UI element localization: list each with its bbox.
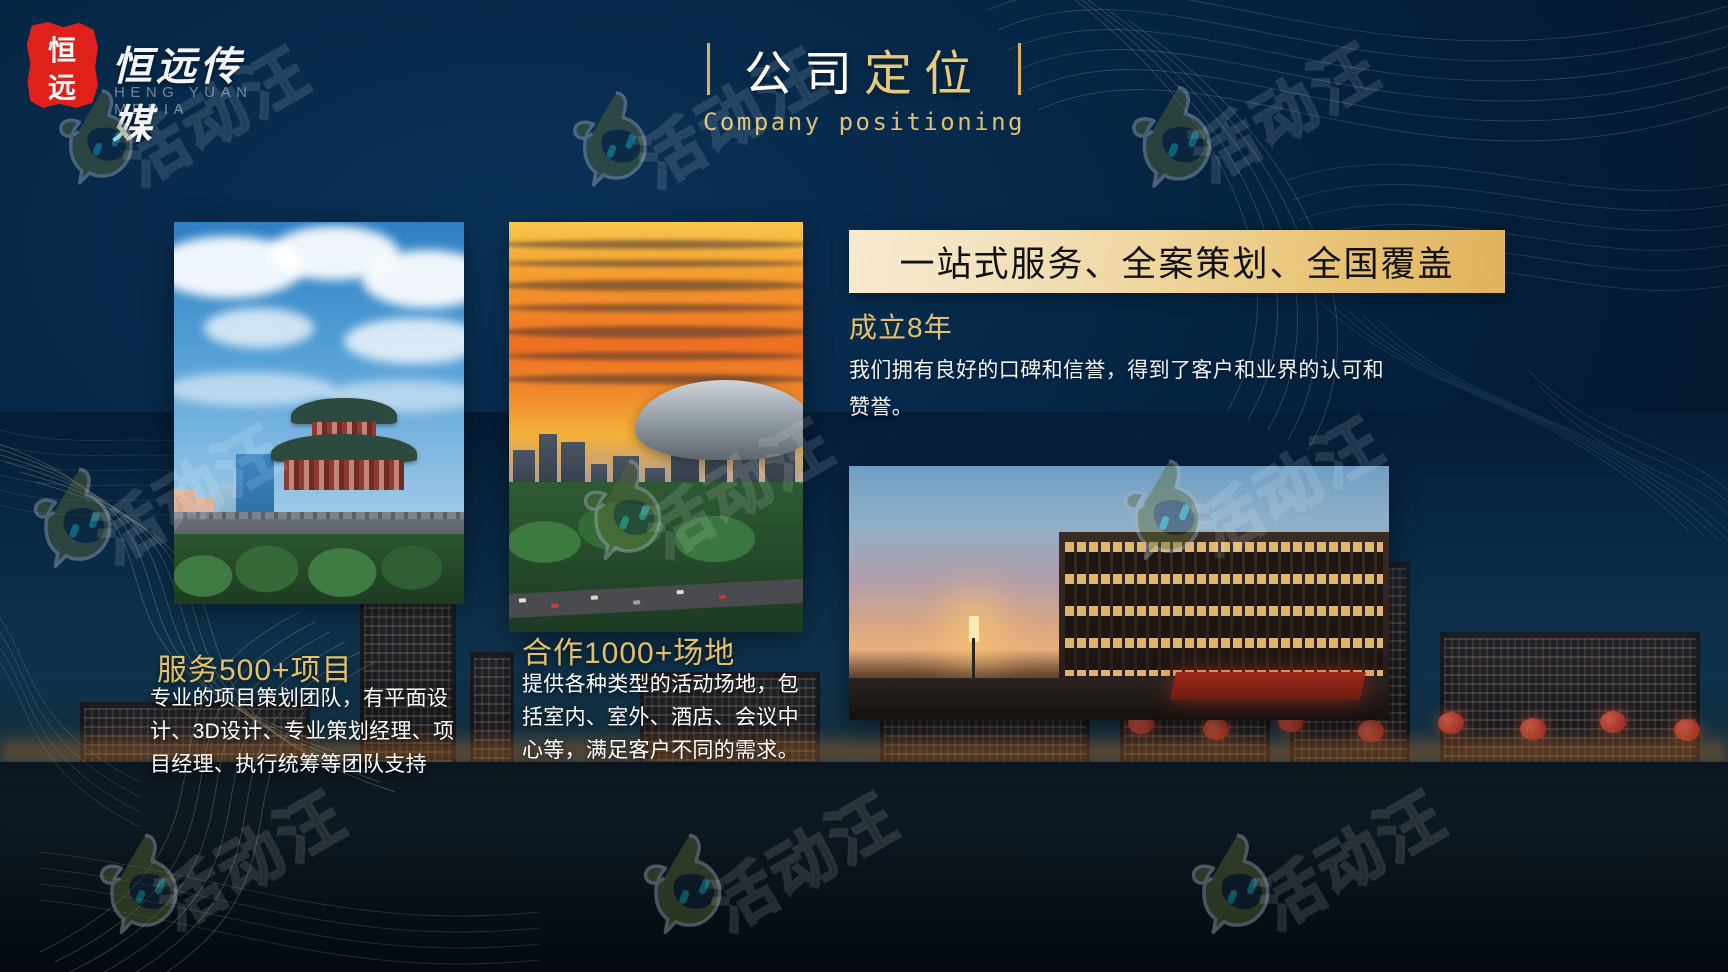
pagoda-roof-lower bbox=[271, 434, 417, 462]
pagoda-pillars-lower bbox=[284, 460, 404, 490]
car bbox=[633, 600, 640, 604]
slide-canvas: 恒 远 恒远传媒 HENG YUAN MEDIA 公司定位 Company po… bbox=[0, 0, 1728, 972]
car bbox=[719, 595, 726, 599]
cloud bbox=[204, 308, 314, 348]
photo1-trees bbox=[174, 534, 464, 604]
car bbox=[591, 595, 598, 599]
cloud-stripe bbox=[509, 304, 803, 312]
title-divider-right bbox=[1018, 43, 1021, 95]
cloud-stripe bbox=[509, 280, 803, 291]
cloud-stripe bbox=[509, 374, 803, 384]
photo3-red-steps bbox=[1170, 672, 1366, 700]
caption-2-heading: 合作1000+场地 bbox=[522, 628, 735, 672]
caption-2-body: 提供各种类型的活动场地，包括室内、室外、酒店、会议中心等，满足客户不同的需求。 bbox=[522, 668, 802, 767]
cloud-stripe bbox=[509, 352, 803, 360]
cloud-stripe bbox=[509, 326, 803, 338]
car bbox=[519, 598, 526, 602]
years-heading: 成立8年 bbox=[849, 306, 953, 346]
highlight-banner: 一站式服务、全案策划、全国覆盖 bbox=[849, 230, 1505, 293]
photo-pagoda-city-daytime bbox=[174, 222, 464, 604]
caption-1-body: 专业的项目策划团队，有平面设计、3D设计、专业策划经理、项目经理、执行统筹等团队… bbox=[150, 682, 455, 781]
cloud-stripe bbox=[509, 240, 803, 249]
car bbox=[677, 590, 684, 594]
pagoda-roof-upper bbox=[291, 398, 397, 424]
photo1-pagoda bbox=[269, 398, 419, 518]
cloud-stripe bbox=[509, 260, 803, 267]
highlight-banner-text: 一站式服务、全案策划、全国覆盖 bbox=[899, 236, 1454, 287]
car bbox=[551, 604, 558, 608]
page-title-part-gold: 定位 bbox=[864, 48, 984, 101]
